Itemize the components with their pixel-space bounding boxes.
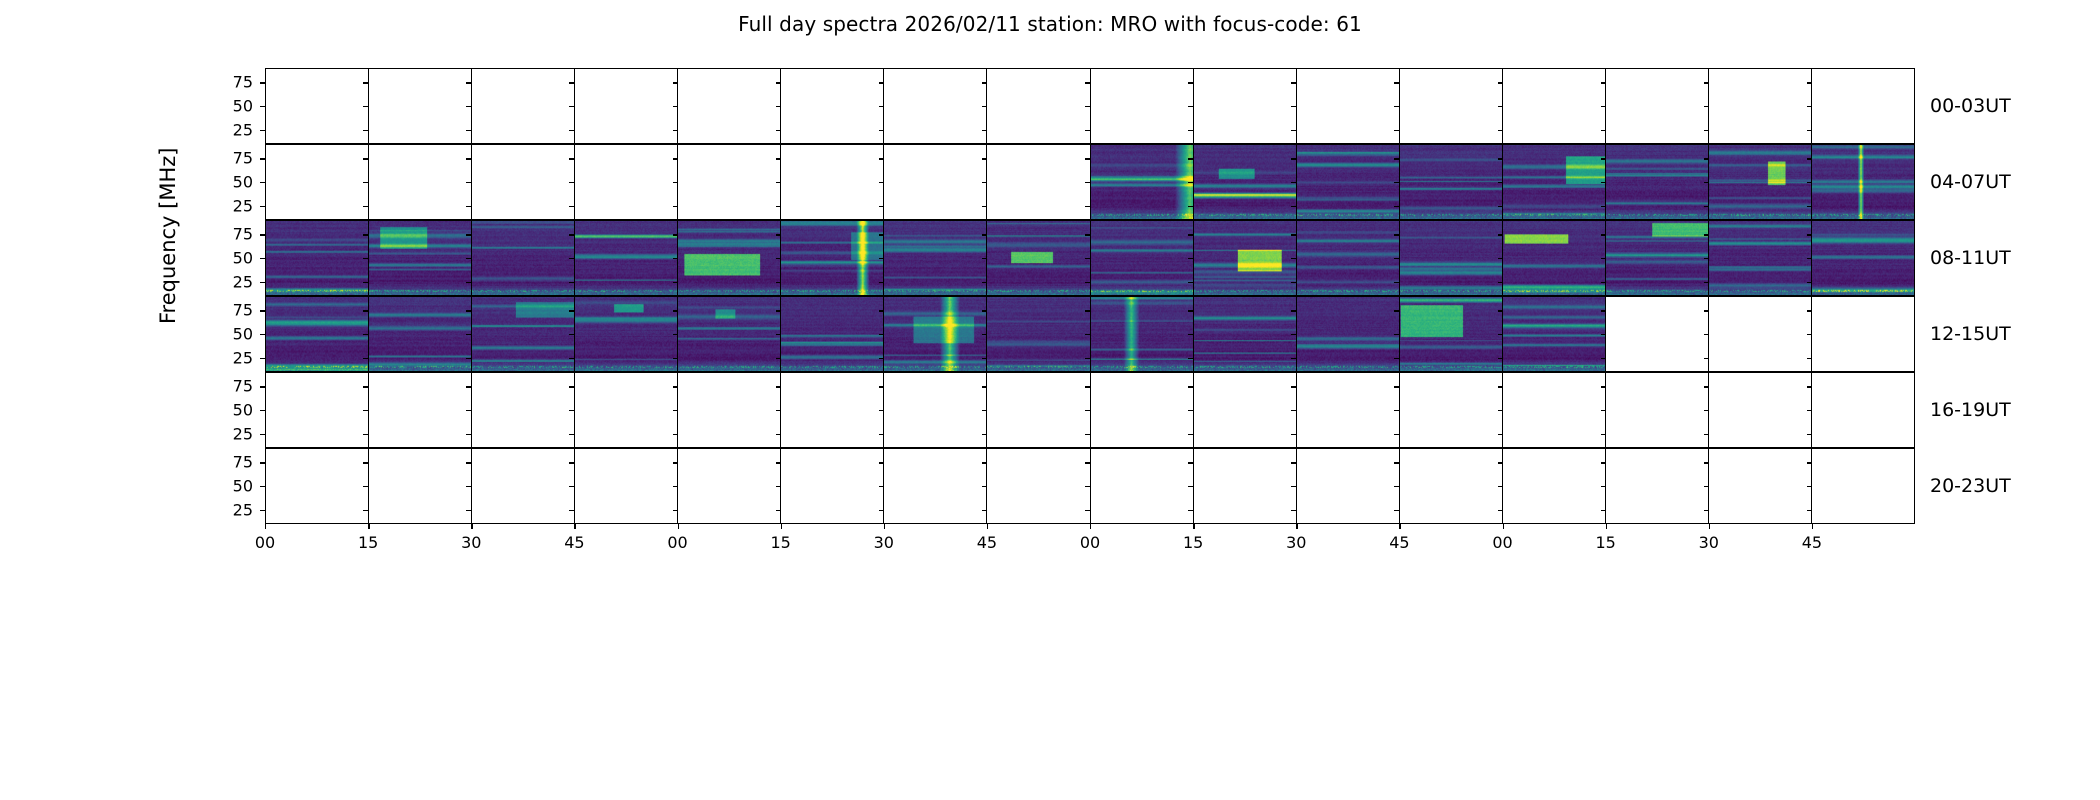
y-tick-mark-inner xyxy=(1291,334,1296,335)
y-tick-mark-inner xyxy=(1188,386,1193,387)
y-tick-mark-inner xyxy=(569,510,574,511)
y-tick-mark-inner xyxy=(363,434,368,435)
spectrogram-panel[interactable] xyxy=(1812,221,1914,295)
y-tick-mark-inner xyxy=(363,282,368,283)
spectrogram-image xyxy=(781,297,883,371)
y-tick-mark-inner xyxy=(1291,358,1296,359)
y-tick-mark-inner xyxy=(673,486,678,487)
spectrogram-panel[interactable] xyxy=(1194,297,1297,371)
y-tick-mark-inner xyxy=(1601,410,1606,411)
y-tick-mark-inner xyxy=(776,410,781,411)
y-tick-mark-inner xyxy=(982,258,987,259)
y-tick-mark-inner xyxy=(466,234,471,235)
y-tick-mark-inner xyxy=(1807,282,1812,283)
y-tick-mark-inner xyxy=(1394,434,1399,435)
spectrogram-panel[interactable] xyxy=(1091,373,1194,447)
y-tick-mark-inner xyxy=(363,462,368,463)
spectrogram-panel[interactable] xyxy=(884,221,987,295)
spectrogram-panel[interactable] xyxy=(1709,373,1812,447)
y-tick-mark-inner xyxy=(776,130,781,131)
panel-grid xyxy=(266,145,1914,219)
y-tick-mark-inner xyxy=(569,334,574,335)
y-tick-mark-inner xyxy=(673,206,678,207)
y-tick-mark-inner xyxy=(1601,182,1606,183)
y-tick-mark-inner xyxy=(1291,82,1296,83)
y-tick-mark xyxy=(260,334,265,335)
spectrogram-image xyxy=(884,297,986,371)
y-tick-mark-inner xyxy=(363,158,368,159)
y-tick-label: 50 xyxy=(213,477,253,496)
spectrogram-panel[interactable] xyxy=(678,221,781,295)
y-tick-mark-inner xyxy=(1291,462,1296,463)
x-tick-mark xyxy=(884,524,885,529)
y-tick-mark-inner xyxy=(1498,182,1503,183)
y-tick-mark-inner xyxy=(1498,282,1503,283)
spectrogram-image xyxy=(266,221,368,295)
spectrogram-image xyxy=(369,221,471,295)
x-tick-mark xyxy=(1606,524,1607,529)
x-tick-label: 30 xyxy=(1276,533,1316,552)
y-tick-mark-inner xyxy=(1188,82,1193,83)
y-tick-mark-inner xyxy=(776,182,781,183)
spectrogram-panel[interactable] xyxy=(472,373,575,447)
spectrogram-image xyxy=(575,297,677,371)
y-tick-mark-inner xyxy=(1394,258,1399,259)
spectrogram-panel[interactable] xyxy=(266,373,369,447)
spectrogram-panel[interactable] xyxy=(369,373,472,447)
spectrogram-panel[interactable] xyxy=(1297,449,1400,523)
spectrogram-panel[interactable] xyxy=(1194,221,1297,295)
x-tick-mark xyxy=(1193,524,1194,529)
y-tick-mark-inner xyxy=(982,182,987,183)
y-tick-mark xyxy=(260,310,265,311)
y-tick-mark-inner xyxy=(1394,486,1399,487)
spectrogram-image xyxy=(1812,221,1914,295)
y-tick-mark-inner xyxy=(1498,386,1503,387)
y-tick-mark xyxy=(260,82,265,83)
y-tick-mark-inner xyxy=(673,510,678,511)
y-tick-mark-inner xyxy=(1601,282,1606,283)
y-tick-mark-inner xyxy=(776,334,781,335)
spectrogram-image xyxy=(1812,145,1914,219)
y-tick-mark-inner xyxy=(1394,206,1399,207)
spectrogram-panel[interactable] xyxy=(1297,221,1400,295)
panel-grid xyxy=(266,69,1914,143)
y-tick-label: 50 xyxy=(213,401,253,420)
y-tick-mark-inner xyxy=(1704,106,1709,107)
y-tick-mark-inner xyxy=(1601,258,1606,259)
y-tick-mark-inner xyxy=(879,358,884,359)
spectrogram-panel[interactable] xyxy=(369,221,472,295)
y-tick-label: 25 xyxy=(213,120,253,139)
spectrogram-panel[interactable] xyxy=(1606,69,1709,143)
spectrogram-image xyxy=(1400,145,1502,219)
spectrogram-panel[interactable] xyxy=(472,449,575,523)
y-tick-mark-inner xyxy=(1807,310,1812,311)
y-tick-label: 25 xyxy=(213,500,253,519)
y-tick-label: 75 xyxy=(213,301,253,320)
spectrogram-image xyxy=(575,221,677,295)
y-tick-mark-inner xyxy=(1291,206,1296,207)
spectrogram-panel[interactable] xyxy=(1297,373,1400,447)
y-tick-mark-inner xyxy=(1498,486,1503,487)
spectrogram-panel[interactable] xyxy=(781,449,884,523)
spectrogram-panel[interactable] xyxy=(1503,449,1606,523)
spectrogram-panel[interactable] xyxy=(884,145,987,219)
spectrogram-image xyxy=(1297,297,1399,371)
y-tick-mark-inner xyxy=(363,130,368,131)
spectrogram-panel[interactable] xyxy=(884,449,987,523)
row-time-label: 08-11UT xyxy=(1930,247,2011,269)
y-tick-mark-inner xyxy=(569,82,574,83)
spectrogram-panel[interactable] xyxy=(781,221,884,295)
y-tick-mark-inner xyxy=(1085,434,1090,435)
x-tick-label: 30 xyxy=(864,533,904,552)
y-tick-mark-inner xyxy=(1807,410,1812,411)
spectrogram-panel[interactable] xyxy=(1400,373,1503,447)
y-tick-mark-inner xyxy=(673,358,678,359)
y-tick-mark-inner xyxy=(1807,358,1812,359)
spectrogram-panel[interactable] xyxy=(369,145,472,219)
y-tick-mark xyxy=(260,258,265,259)
y-tick-label: 75 xyxy=(213,149,253,168)
spectrogram-image xyxy=(1503,145,1605,219)
y-tick-mark-inner xyxy=(1188,206,1193,207)
spectrogram-panel[interactable] xyxy=(575,297,678,371)
spectrogram-panel[interactable] xyxy=(1503,373,1606,447)
y-tick-mark-inner xyxy=(1085,182,1090,183)
spectrogram-panel[interactable] xyxy=(884,69,987,143)
spectrogram-panel[interactable] xyxy=(1503,221,1606,295)
y-tick-mark-inner xyxy=(569,282,574,283)
spectrogram-panel[interactable] xyxy=(575,449,678,523)
y-tick-mark-inner xyxy=(879,182,884,183)
spectrogram-panel[interactable] xyxy=(1194,145,1297,219)
spectrogram-panel[interactable] xyxy=(987,373,1090,447)
y-tick-mark-inner xyxy=(879,386,884,387)
y-tick-mark-inner xyxy=(1085,206,1090,207)
spectrogram-panel[interactable] xyxy=(575,145,678,219)
spectrogram-panel[interactable] xyxy=(884,297,987,371)
spectrogram-panel[interactable] xyxy=(987,221,1090,295)
row-time-label: 00-03UT xyxy=(1930,95,2011,117)
spectrogram-panel[interactable] xyxy=(1709,69,1812,143)
y-tick-mark-inner xyxy=(1807,386,1812,387)
spectrogram-panel[interactable] xyxy=(678,69,781,143)
y-tick-mark-inner xyxy=(1085,462,1090,463)
spectrogram-panel[interactable] xyxy=(369,69,472,143)
spectrogram-panel[interactable] xyxy=(369,449,472,523)
y-tick-mark-inner xyxy=(982,82,987,83)
spectrogram-panel[interactable] xyxy=(1091,221,1194,295)
spectrogram-panel[interactable] xyxy=(1091,145,1194,219)
y-tick-mark-inner xyxy=(363,386,368,387)
spectrogram-panel[interactable] xyxy=(575,69,678,143)
spectrogram-panel[interactable] xyxy=(987,449,1090,523)
y-tick-mark-inner xyxy=(879,106,884,107)
spectrogram-panel[interactable] xyxy=(1606,449,1709,523)
y-tick-label: 75 xyxy=(213,225,253,244)
spectrogram-panel[interactable] xyxy=(1194,449,1297,523)
y-tick-mark-inner xyxy=(982,334,987,335)
y-tick-mark-inner xyxy=(1807,206,1812,207)
y-tick-mark-inner xyxy=(1394,462,1399,463)
spectrogram-panel[interactable] xyxy=(266,221,369,295)
spectrogram-panel[interactable] xyxy=(1400,449,1503,523)
y-tick-mark-inner xyxy=(776,434,781,435)
y-tick-mark-inner xyxy=(569,310,574,311)
y-tick-mark-inner xyxy=(569,206,574,207)
y-tick-mark-inner xyxy=(466,434,471,435)
y-tick-mark-inner xyxy=(1601,158,1606,159)
y-tick-mark-inner xyxy=(1498,82,1503,83)
spectrogram-panel[interactable] xyxy=(1606,145,1709,219)
y-tick-mark-inner xyxy=(466,130,471,131)
spectrogram-image xyxy=(1297,145,1399,219)
spectrogram-panel[interactable] xyxy=(1400,145,1503,219)
y-tick-mark-inner xyxy=(1807,334,1812,335)
y-tick-mark-inner xyxy=(776,310,781,311)
y-tick-mark-inner xyxy=(1498,158,1503,159)
y-tick-mark-inner xyxy=(879,130,884,131)
spectrogram-panel[interactable] xyxy=(678,449,781,523)
y-tick-mark-inner xyxy=(1188,410,1193,411)
y-tick-mark-inner xyxy=(1498,310,1503,311)
x-tick-mark xyxy=(574,524,575,529)
y-tick-mark-inner xyxy=(1601,234,1606,235)
spectrogram-panel[interactable] xyxy=(1812,449,1914,523)
x-tick-mark xyxy=(781,524,782,529)
y-tick-label: 50 xyxy=(213,325,253,344)
y-tick-mark-inner xyxy=(1704,410,1709,411)
spectrogram-panel[interactable] xyxy=(266,145,369,219)
y-tick-mark-inner xyxy=(1291,258,1296,259)
spectrogram-panel[interactable] xyxy=(987,145,1090,219)
y-tick-mark-inner xyxy=(569,234,574,235)
y-tick-mark-inner xyxy=(569,386,574,387)
y-tick-mark-inner xyxy=(1291,106,1296,107)
spectrogram-panel[interactable] xyxy=(781,145,884,219)
y-tick-mark-inner xyxy=(1188,158,1193,159)
spectrogram-panel[interactable] xyxy=(987,297,1090,371)
y-tick-mark-inner xyxy=(1085,386,1090,387)
y-tick-mark-inner xyxy=(363,334,368,335)
y-tick-mark-inner xyxy=(1601,386,1606,387)
y-tick-mark-inner xyxy=(1807,462,1812,463)
spectrogram-panel[interactable] xyxy=(781,297,884,371)
y-tick-mark-inner xyxy=(1394,282,1399,283)
y-tick-mark-inner xyxy=(569,106,574,107)
y-tick-mark-inner xyxy=(1601,510,1606,511)
y-tick-mark-inner xyxy=(1498,410,1503,411)
y-tick-mark-inner xyxy=(982,434,987,435)
spectrogram-panel[interactable] xyxy=(575,221,678,295)
y-tick-mark-inner xyxy=(1704,434,1709,435)
spectrogram-panel[interactable] xyxy=(1297,69,1400,143)
y-tick-mark-inner xyxy=(466,386,471,387)
y-tick-mark-inner xyxy=(982,130,987,131)
spectrogram-panel[interactable] xyxy=(884,373,987,447)
y-tick-label: 75 xyxy=(213,453,253,472)
y-tick-mark-inner xyxy=(569,158,574,159)
y-tick-mark-inner xyxy=(363,358,368,359)
y-tick-mark-inner xyxy=(1291,158,1296,159)
y-tick-label: 50 xyxy=(213,173,253,192)
spectrogram-panel[interactable] xyxy=(1503,69,1606,143)
y-tick-mark-inner xyxy=(1291,510,1296,511)
spectrogram-panel[interactable] xyxy=(266,449,369,523)
x-tick-mark xyxy=(1709,524,1710,529)
spectrogram-image xyxy=(472,221,574,295)
y-tick-mark-inner xyxy=(776,510,781,511)
spectrogram-image xyxy=(1091,297,1193,371)
spectrogram-panel[interactable] xyxy=(1606,221,1709,295)
y-tick-mark-inner xyxy=(1085,310,1090,311)
spectrogram-panel[interactable] xyxy=(1812,145,1914,219)
y-tick-mark-inner xyxy=(1704,82,1709,83)
spectrogram-panel[interactable] xyxy=(1606,373,1709,447)
y-tick-mark-inner xyxy=(1291,486,1296,487)
y-tick-mark-inner xyxy=(982,106,987,107)
spectrogram-panel[interactable] xyxy=(1606,297,1709,371)
spectrogram-panel[interactable] xyxy=(369,297,472,371)
y-tick-mark-inner xyxy=(1807,510,1812,511)
x-tick-label: 00 xyxy=(658,533,698,552)
y-tick-mark-inner xyxy=(1704,462,1709,463)
x-tick-label: 15 xyxy=(1586,533,1626,552)
y-tick-mark-inner xyxy=(1601,130,1606,131)
y-tick-mark-inner xyxy=(1807,182,1812,183)
y-tick-mark-inner xyxy=(673,282,678,283)
y-tick-mark-inner xyxy=(776,386,781,387)
spectrogram-panel[interactable] xyxy=(1503,145,1606,219)
y-tick-mark-inner xyxy=(1704,510,1709,511)
spectrogram-panel[interactable] xyxy=(266,297,369,371)
panel-grid xyxy=(266,449,1914,523)
y-tick-mark-inner xyxy=(776,282,781,283)
spectrogram-panel[interactable] xyxy=(1709,221,1812,295)
y-tick-label: 75 xyxy=(213,377,253,396)
y-tick-mark-inner xyxy=(466,282,471,283)
y-tick-mark-inner xyxy=(1188,130,1193,131)
y-tick-mark-inner xyxy=(673,334,678,335)
spectrogram-panel[interactable] xyxy=(1400,297,1503,371)
spectrogram-panel[interactable] xyxy=(575,373,678,447)
y-tick-mark-inner xyxy=(1498,462,1503,463)
y-tick-mark-inner xyxy=(1291,182,1296,183)
x-tick-mark xyxy=(265,524,266,529)
spectrogram-panel[interactable] xyxy=(987,69,1090,143)
y-tick-mark-inner xyxy=(1498,358,1503,359)
y-tick-mark-inner xyxy=(1085,158,1090,159)
y-tick-mark-inner xyxy=(569,258,574,259)
y-tick-mark-inner xyxy=(1601,206,1606,207)
y-tick-mark xyxy=(260,106,265,107)
y-tick-mark-inner xyxy=(1601,334,1606,335)
y-tick-label: 75 xyxy=(213,73,253,92)
spectrogram-panel[interactable] xyxy=(266,69,369,143)
y-tick-mark-inner xyxy=(673,158,678,159)
page-title: Full day spectra 2026/02/11 station: MRO… xyxy=(0,12,2100,36)
y-tick-mark-inner xyxy=(1601,462,1606,463)
y-tick-mark-inner xyxy=(1601,358,1606,359)
y-tick-mark-inner xyxy=(1498,130,1503,131)
y-tick-mark-inner xyxy=(1704,158,1709,159)
y-tick-mark-inner xyxy=(673,182,678,183)
spectrogram-panel[interactable] xyxy=(781,373,884,447)
y-tick-mark-inner xyxy=(466,462,471,463)
spectrogram-panel[interactable] xyxy=(1091,69,1194,143)
y-tick-mark-inner xyxy=(776,206,781,207)
y-tick-mark-inner xyxy=(673,310,678,311)
y-tick-mark-inner xyxy=(1394,82,1399,83)
y-tick-mark-inner xyxy=(1601,434,1606,435)
x-tick-mark xyxy=(987,524,988,529)
y-tick-mark-inner xyxy=(1188,234,1193,235)
spectrogram-panel[interactable] xyxy=(1709,145,1812,219)
y-tick-mark-inner xyxy=(569,434,574,435)
spectrogram-panel[interactable] xyxy=(1194,69,1297,143)
y-tick-mark-inner xyxy=(776,234,781,235)
y-tick-mark-inner xyxy=(1085,358,1090,359)
spectrogram-panel[interactable] xyxy=(1812,69,1914,143)
y-tick-mark-inner xyxy=(1188,486,1193,487)
y-tick-mark-inner xyxy=(982,206,987,207)
spectrogram-image xyxy=(472,297,574,371)
y-tick-mark-inner xyxy=(1498,206,1503,207)
y-tick-mark-inner xyxy=(569,182,574,183)
spectrogram-panel[interactable] xyxy=(472,69,575,143)
y-tick-mark-inner xyxy=(1807,82,1812,83)
y-tick-mark-inner xyxy=(1188,310,1193,311)
y-tick-mark-inner xyxy=(776,258,781,259)
spectrogram-panel[interactable] xyxy=(472,297,575,371)
spectrogram-panel[interactable] xyxy=(472,221,575,295)
spectrogram-panel[interactable] xyxy=(1812,297,1914,371)
y-tick-mark-inner xyxy=(1807,258,1812,259)
spectrogram-panel[interactable] xyxy=(678,145,781,219)
y-tick-mark-inner xyxy=(363,310,368,311)
spectrogram-panel[interactable] xyxy=(781,69,884,143)
spectrogram-image xyxy=(1606,145,1708,219)
y-tick-mark-inner xyxy=(466,358,471,359)
spectrogram-panel[interactable] xyxy=(472,145,575,219)
y-tick-mark-inner xyxy=(673,106,678,107)
spectrogram-panel[interactable] xyxy=(1400,69,1503,143)
spectrogram-panel[interactable] xyxy=(1400,221,1503,295)
spectrogram-panel[interactable] xyxy=(1503,297,1606,371)
spectrogram-panel[interactable] xyxy=(678,297,781,371)
y-tick-mark-inner xyxy=(1807,130,1812,131)
y-tick-mark-inner xyxy=(1291,234,1296,235)
x-tick-mark xyxy=(1090,524,1091,529)
spectrogram-panel[interactable] xyxy=(1709,449,1812,523)
y-tick-mark-inner xyxy=(1704,310,1709,311)
spectrogram-panel[interactable] xyxy=(1709,297,1812,371)
y-tick-mark xyxy=(260,358,265,359)
spectrogram-panel[interactable] xyxy=(1812,373,1914,447)
spectrogram-panel[interactable] xyxy=(1297,297,1400,371)
spectrogram-panel[interactable] xyxy=(678,373,781,447)
y-tick-mark-inner xyxy=(1291,282,1296,283)
spectrogram-panel[interactable] xyxy=(1091,449,1194,523)
spectrogram-panel[interactable] xyxy=(1091,297,1194,371)
row-time-label: 12-15UT xyxy=(1930,323,2011,345)
spectrogram-panel[interactable] xyxy=(1194,373,1297,447)
y-tick-mark-inner xyxy=(1704,182,1709,183)
y-tick-mark-inner xyxy=(1188,282,1193,283)
spectrogram-panel[interactable] xyxy=(1297,145,1400,219)
